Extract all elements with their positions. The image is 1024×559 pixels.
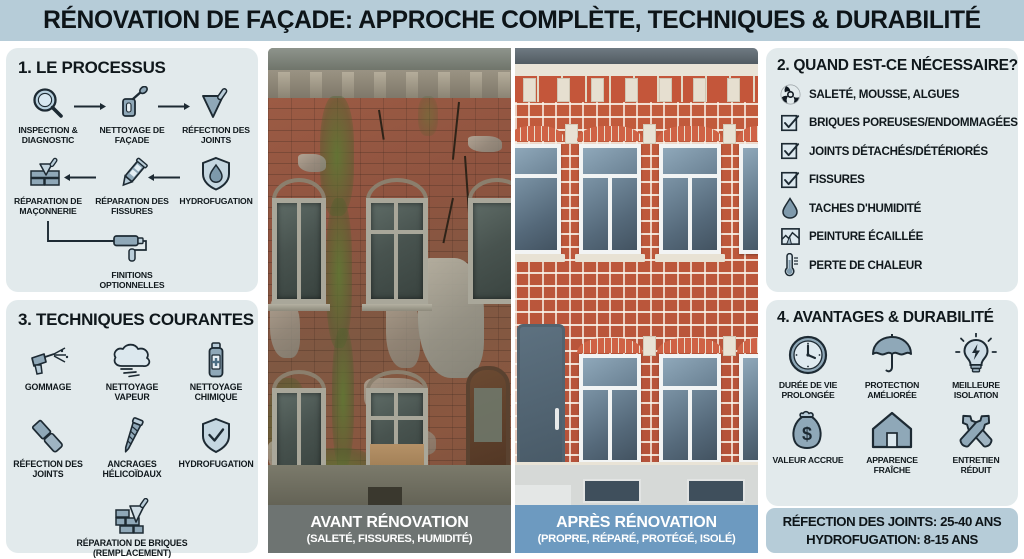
benefit-label: APPARENCEFRAÎCHE [866,455,918,476]
process-flow: INSPECTION &DIAGNOSTIC [6,84,258,290]
section-process-title: 1. LE PROCESSUS [18,58,166,78]
caption-after: APRÈS RÉNOVATION (PROPRE, RÉPARÉ, PROTÉG… [515,505,758,553]
benefit-insulation[interactable]: MEILLEUREISOLATION [934,332,1018,401]
list-item[interactable]: SALETÉ, MOUSSE, ALGUES [776,80,1018,109]
technique-joints[interactable]: RÉFECTION DESJOINTS [6,413,90,480]
checkbox-checked-icon[interactable] [776,141,804,161]
injection-syringe-icon [115,155,149,193]
list-item[interactable]: JOINTS DÉTACHÉS/DÉTÉRIORÉS [776,137,1018,166]
list-item-label: TACHES D'HUMIDITÉ [809,202,921,215]
process-step-label: INSPECTION &DIAGNOSTIC [18,125,77,145]
caption-after-subtitle: (PROPRE, RÉPARÉ, PROTÉGÉ, ISOLÉ) [538,533,736,545]
process-row-3: FINITIONSOPTIONNELLES [6,229,258,290]
technique-chemical[interactable]: NETTOYAGECHIMIQUE [174,336,258,403]
technique-waterproofing[interactable]: HYDROFUGATION [174,413,258,480]
trowel-icon [198,84,234,122]
process-step-masonry[interactable]: RÉPARATION DEMAÇONNERIE [6,155,90,216]
techniques-row-2: RÉFECTION DESJOINTS [6,413,258,480]
page-title: RÉNOVATION DE FAÇADE: APPROCHE COMPLÈTE,… [43,6,980,35]
benefit-label: PROTECTIONAMÉLIORÉE [865,380,919,401]
section-when-needed: 2. QUAND EST-CE NÉCESSAIRE? SALETÉ, MOUS… [766,48,1018,292]
photo-after-renovation [515,48,758,505]
helical-anchor-icon [115,413,149,455]
technique-label: RÉFECTION DESJOINTS [13,459,82,480]
magnifier-icon [30,84,66,122]
brick-repair-icon [28,155,68,193]
process-step-finishes[interactable]: FINITIONSOPTIONNELLES [72,229,192,290]
shield-droplet-icon [200,155,232,193]
lightbulb-icon [955,332,997,378]
benefits-grid: DURÉE DE VIEPROLONGÉE PROTECTIONAMÉLIORÉ… [766,332,1018,475]
process-step-joints[interactable]: RÉFECTION DESJOINTS [174,84,258,145]
technique-gommage[interactable]: GOMMAGE [6,336,90,403]
process-step-label: RÉFECTION DESJOINTS [182,125,250,145]
benefit-value[interactable]: $ VALEUR ACCRUE [766,407,850,476]
list-item[interactable]: BRIQUES POREUSES/ENDOMMAGÉES [776,109,1018,138]
list-item[interactable]: FISSURES [776,166,1018,195]
list-item-label: BRIQUES POREUSES/ENDOMMAGÉES [809,116,1018,129]
techniques-row-1: GOMMAGE NETTOYAGEVAPEUR [6,336,258,403]
clock-icon [787,332,829,378]
benefits-row-2: $ VALEUR ACCRUE APPARENCEFRAÎCHE [766,407,1018,476]
infographic-page: RÉNOVATION DE FAÇADE: APPROCHE COMPLÈTE,… [0,0,1024,559]
process-step-label: NETTOYAGE DEFAÇADE [99,125,164,145]
durability-line-joints: RÉFECTION DES JOINTS: 25-40 ANS [783,513,1002,531]
list-item-label: PERTE DE CHALEUR [809,259,922,272]
checkbox-checked-icon[interactable] [776,113,804,133]
wrenches-icon [954,407,998,453]
technique-label: HYDROFUGATION [178,459,253,469]
benefit-label: ENTRETIENRÉDUIT [953,455,1000,476]
techniques-row-3: RÉPARATION DE BRIQUES(REMPLACEMENT) [6,492,258,559]
when-needed-list: SALETÉ, MOUSSE, ALGUES BRIQUES POREUSES/… [776,80,1018,280]
list-item[interactable]: PEINTURE ÉCAILLÉE [776,223,1018,252]
technique-anchors[interactable]: ANCRAGESHÉLICOÏDAUX [90,413,174,480]
section-techniques: 3. TECHNIQUES COURANTES [6,300,258,553]
benefit-appearance[interactable]: APPARENCEFRAÎCHE [850,407,934,476]
pressure-washer-icon [115,84,149,122]
section-techniques-title: 3. TECHNIQUES COURANTES [18,310,254,330]
technique-steam[interactable]: NETTOYAGEVAPEUR [90,336,174,403]
water-droplet-icon [776,197,804,219]
list-item-label: SALETÉ, MOUSSE, ALGUES [809,88,959,101]
process-step-label: HYDROFUGATION [179,196,252,206]
process-step-waterproofing[interactable]: HYDROFUGATION [174,155,258,216]
benefit-maintenance[interactable]: ENTRETIENRÉDUIT [934,407,1018,476]
techniques-grid: GOMMAGE NETTOYAGEVAPEUR [6,336,258,558]
process-step-inspection[interactable]: INSPECTION &DIAGNOSTIC [6,84,90,145]
caption-before: AVANT RÉNOVATION (SALETÉ, FISSURES, HUMI… [268,505,511,553]
steam-cloud-icon [109,336,155,378]
shield-check-icon [200,413,232,455]
house-icon [870,407,914,453]
checkbox-checked-icon[interactable] [776,170,804,190]
process-row-2: RÉPARATION DEMAÇONNERIE [6,155,258,216]
chemical-bottle-icon [201,336,231,378]
page-header: RÉNOVATION DE FAÇADE: APPROCHE COMPLÈTE,… [0,0,1024,41]
benefit-lifespan[interactable]: DURÉE DE VIEPROLONGÉE [766,332,850,401]
list-item-label: JOINTS DÉTACHÉS/DÉTÉRIORÉS [809,145,988,158]
joint-tool-icon [28,413,68,455]
photo-before-renovation [268,48,511,505]
durability-summary-bar: RÉFECTION DES JOINTS: 25-40 ANS HYDROFUG… [766,508,1018,553]
process-step-cleaning[interactable]: NETTOYAGE DEFAÇADE [90,84,174,145]
durability-line-waterproofing: HYDROFUGATION: 8-15 ANS [806,531,978,549]
before-after-comparison: AVANT RÉNOVATION (SALETÉ, FISSURES, HUMI… [268,48,758,553]
technique-brick-replacement[interactable]: RÉPARATION DE BRIQUES(REMPLACEMENT) [6,492,258,559]
process-step-cracks[interactable]: RÉPARATION DESFISSURES [90,155,174,216]
benefits-row-1: DURÉE DE VIEPROLONGÉE PROTECTIONAMÉLIORÉ… [766,332,1018,401]
svg-text:$: $ [802,424,812,444]
technique-label: GOMMAGE [25,382,71,392]
benefit-label: VALEUR ACCRUE [773,455,844,465]
peeling-paint-icon [776,226,804,247]
process-step-label: RÉPARATION DEMAÇONNERIE [14,196,82,216]
technique-label: NETTOYAGEVAPEUR [106,382,158,403]
technique-label: RÉPARATION DE BRIQUES(REMPLACEMENT) [77,538,188,559]
caption-before-title: AVANT RÉNOVATION [310,514,468,532]
technique-label: ANCRAGESHÉLICOÏDAUX [103,459,162,480]
list-item-label: PEINTURE ÉCAILLÉE [809,230,923,243]
process-step-label: RÉPARATION DESFISSURES [95,196,169,216]
biohazard-icon [776,84,804,105]
benefit-label: DURÉE DE VIEPROLONGÉE [779,380,837,401]
section-benefits: 4. AVANTAGES & DURABILITÉ [766,300,1018,506]
benefit-label: MEILLEUREISOLATION [952,380,1000,401]
section-process: 1. LE PROCESSUS INSPECTION &DIAGNOSTIC [6,48,258,292]
thermometer-icon [776,253,804,277]
list-item[interactable]: PERTE DE CHALEUR [776,251,1018,280]
sandblaster-icon [26,336,70,378]
section-when-needed-title: 2. QUAND EST-CE NÉCESSAIRE? [777,57,1018,75]
paint-roller-icon [110,229,154,267]
process-step-label: FINITIONSOPTIONNELLES [99,270,164,290]
list-item-label: FISSURES [809,173,865,186]
process-row-1: INSPECTION &DIAGNOSTIC [6,84,258,145]
caption-before-subtitle: (SALETÉ, FISSURES, HUMIDITÉ) [307,533,473,545]
brick-trowel-icon [106,492,158,534]
list-item[interactable]: TACHES D'HUMIDITÉ [776,194,1018,223]
benefit-protection[interactable]: PROTECTIONAMÉLIORÉE [850,332,934,401]
caption-after-title: APRÈS RÉNOVATION [556,514,717,532]
section-benefits-title: 4. AVANTAGES & DURABILITÉ [777,309,994,327]
technique-label: NETTOYAGECHIMIQUE [190,382,242,403]
umbrella-icon [870,332,914,378]
money-bag-icon: $ [789,407,827,453]
